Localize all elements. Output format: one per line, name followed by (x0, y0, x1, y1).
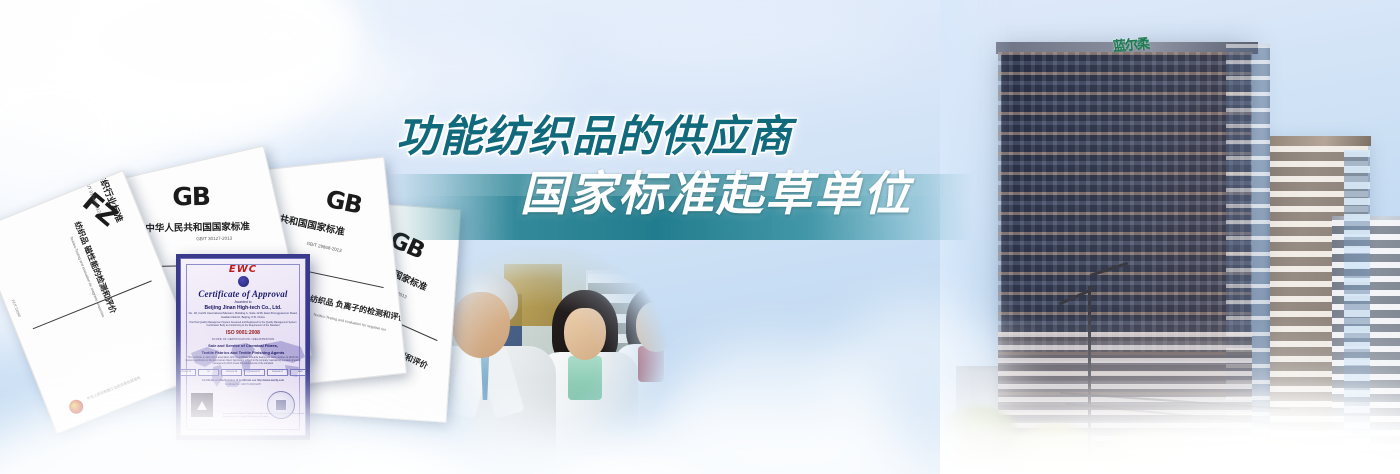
document-publisher: 中华人民共和国工业和信息化部发布 (86, 376, 141, 402)
ewc-logo: EWC (185, 264, 301, 275)
badge-glyph-icon (197, 401, 207, 410)
headline-line-2: 国家标准起草单位 (330, 166, 950, 224)
street-tree (1010, 424, 1100, 474)
street-tree (1240, 438, 1310, 474)
certificate-scope-label: SCOPE OF CERTIFICATION / REGISTRATION (185, 338, 301, 341)
street-tree (1100, 430, 1196, 474)
headline-line-1: 功能纺织品的供应商 (330, 112, 950, 162)
document-side-note: FZ/T 01040 (11, 299, 22, 318)
document-title: 中华人民共和国国家标准 (145, 219, 250, 235)
certificate-scope-line-2: Textile Fabrics and Textile Finishing Ag… (185, 350, 301, 355)
certificate-validity-line: Certificate or effectiveness of certific… (185, 379, 301, 382)
official-seal-icon (267, 391, 295, 419)
certificate-footer-code: E0001 (193, 427, 199, 429)
awarded-to-label: Awarded to (185, 300, 301, 304)
certificate-number: Certificate No.: EWC713042 EWC (185, 383, 301, 386)
certificate-date-box: 2013-05-28 (221, 369, 242, 376)
seal-core-icon (276, 400, 286, 410)
certificate-body-text: Has Had Quality Management System Assess… (185, 321, 301, 327)
face (636, 302, 676, 352)
certificate-date-box: 2013-05-28 (180, 369, 196, 376)
certificate-note: This certificate is valid only in associ… (185, 357, 301, 366)
street-lamppost (1088, 286, 1091, 474)
certificate-date-box: 01 (198, 369, 219, 376)
document-subtitle: 纺织品 负离子的检测和评价 (309, 293, 407, 324)
document-code: GB/T 30127-2013 (196, 236, 232, 242)
certificate-accreditation-text: Accreditation Member of International Ac… (223, 413, 305, 419)
headline: 功能纺织品的供应商 国家标准起草单位 (330, 112, 950, 224)
national-emblem-icon (67, 398, 85, 416)
cloud-mid-faint-b (600, 10, 900, 80)
certificate-date-box: EWC (290, 369, 306, 376)
anchor-emblem-icon (238, 276, 249, 287)
cityscape-photo: 蓝尔柔 (940, 0, 1400, 474)
accreditation-badge-icon (191, 393, 213, 417)
certificate-date-box: 2016-05-27 (244, 369, 265, 376)
certificate-company-address: No. 18, Caizhi International Mansion, Bu… (185, 312, 301, 319)
document-code: GB/T 29868-2013 (306, 241, 342, 253)
certificate-scope-line-1: Sale and Service of Chemical Fibres, (185, 343, 301, 348)
certificate-date-boxes: 2013-05-28 01 2013-05-28 2016-05-27 2016… (185, 369, 301, 376)
certificate-date-box: 2016-05-27 (267, 369, 288, 376)
beige-high-rise-glass-face (1344, 150, 1370, 474)
certificate-standard: ISO 9001:2008 (185, 330, 301, 336)
iso-certificate: EWC Certificate of Approval Awarded to B… (176, 254, 310, 440)
gb-logo: GB (172, 182, 210, 212)
certificate-title: Certificate of Approval (185, 289, 301, 299)
shirt (568, 356, 602, 400)
promotional-banner: 蓝尔柔 (0, 0, 1400, 474)
street-tree (940, 406, 1020, 474)
cloud-top-left-large (0, 0, 340, 170)
beige-high-rise-roof (1255, 136, 1371, 146)
cloud-top-left-medium (60, 0, 360, 120)
face (564, 308, 606, 360)
cloud-mid-faint-a (330, 40, 560, 120)
